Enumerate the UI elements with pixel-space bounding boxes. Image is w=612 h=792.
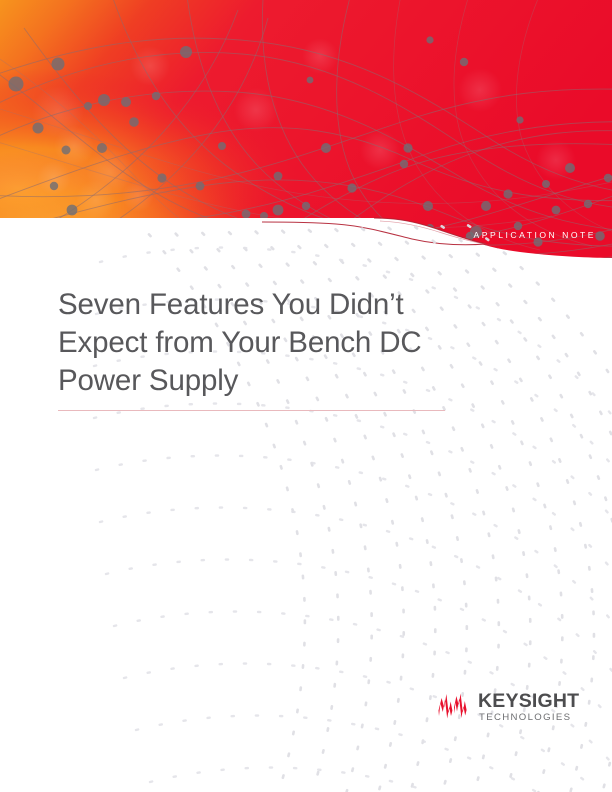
- keysight-tagline: TECHNOLOGIES: [479, 712, 571, 724]
- page-title-line: Power Supply: [58, 364, 238, 397]
- keysight-wordmark: KEYSIGHT: [478, 690, 579, 713]
- banner-graphic: [0, 0, 612, 262]
- page-title: Seven Features You Didn’tExpect from You…: [58, 286, 458, 400]
- document-page: APPLICATION NOTE: [0, 0, 612, 792]
- title-block: Seven Features You Didn’tExpect from You…: [58, 286, 458, 400]
- page-title-line: Expect from Your Bench DC: [58, 326, 422, 359]
- title-divider-rule: [58, 410, 445, 411]
- keysight-logo: KEYSIGHT TECHNOLOGIES: [437, 690, 587, 732]
- page-title-line: Seven Features You Didn’t: [58, 288, 404, 321]
- eyebrow-application-note: APPLICATION NOTE: [474, 230, 596, 240]
- banner-swoosh: [0, 218, 486, 245]
- keysight-waveform-mark-icon: [437, 692, 481, 720]
- cover-banner: [0, 0, 612, 262]
